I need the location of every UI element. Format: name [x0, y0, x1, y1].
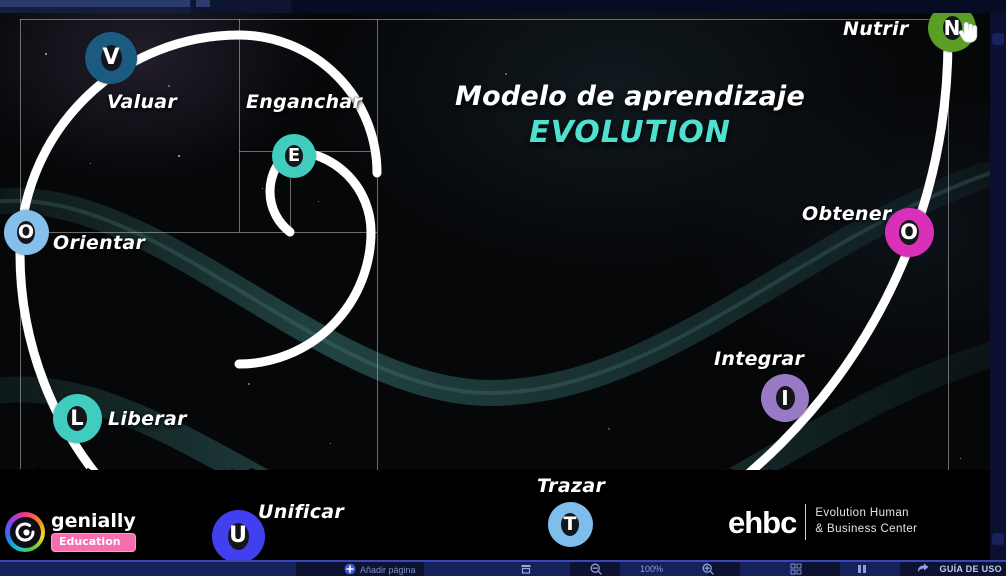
app-top-bar: [0, 0, 1006, 13]
genially-logo-icon: [5, 512, 45, 552]
right-panel-button-mid[interactable]: [992, 533, 1004, 545]
node-label-orientar: Orientar: [53, 232, 145, 254]
node-label-integrar: Integrar: [714, 348, 804, 370]
ehbc-tagline: Evolution Human & Business Center: [815, 506, 917, 537]
node-orientar[interactable]: O: [4, 210, 49, 255]
node-letter: O: [899, 220, 919, 245]
node-letter: V: [101, 45, 122, 71]
zoom-in-icon[interactable]: [702, 563, 714, 575]
hand-cursor-icon: [955, 14, 983, 44]
title-line-1: Modelo de aprendizaje: [430, 81, 830, 112]
add-page-label[interactable]: Añadir página: [360, 564, 416, 576]
toolbar-view-block: [740, 562, 796, 576]
node-liberar[interactable]: L: [53, 394, 102, 443]
right-panel-button-top[interactable]: [992, 33, 1004, 45]
toolbar-mid-block: [424, 562, 570, 576]
node-letter: E: [285, 145, 303, 167]
grid-view-icon[interactable]: [790, 563, 802, 575]
node-letter: O: [17, 221, 35, 244]
slide-canvas[interactable]: Modelo de aprendizaje EVOLUTION EEnganch…: [0, 13, 990, 562]
node-letter: L: [67, 406, 87, 431]
node-label-obtener: Obtener: [802, 203, 892, 225]
ehbc-tagline-line-1: Evolution Human: [815, 506, 917, 522]
zoom-level-label[interactable]: 100%: [640, 564, 663, 574]
guide-button-label[interactable]: GUÍA DE USO: [940, 564, 1002, 574]
zoom-out-icon[interactable]: [590, 563, 602, 575]
node-valuar[interactable]: V: [85, 32, 137, 84]
toolbar-left-block: [0, 562, 296, 576]
node-trazar[interactable]: T: [548, 502, 593, 547]
toolbar-extra-block: [840, 562, 900, 576]
node-label-enganchar: Enganchar: [246, 91, 362, 113]
ehbc-brand-name: ehbc: [728, 507, 796, 538]
add-page-icon[interactable]: [344, 563, 356, 575]
node-label-trazar: Trazar: [537, 475, 605, 497]
title-line-2: EVOLUTION: [430, 115, 830, 150]
ehbc-tagline-line-2: & Business Center: [815, 522, 917, 538]
node-letter: I: [776, 386, 795, 410]
toolbar-zoom-block: [620, 562, 708, 576]
ehbc-logo: ehbc Evolution Human & Business Center: [728, 504, 917, 540]
node-integrar[interactable]: I: [761, 374, 809, 422]
slide-title: Modelo de aprendizaje EVOLUTION: [430, 81, 830, 150]
node-label-unificar: Unificar: [258, 501, 344, 523]
node-unificar[interactable]: U: [212, 510, 265, 563]
treeline-silhouette: [0, 464, 990, 480]
genially-education-badge: Education: [51, 533, 136, 551]
node-label-liberar: Liberar: [108, 408, 187, 430]
node-label-nutrir: Nutrir: [843, 18, 909, 40]
right-side-panel[interactable]: [990, 13, 1006, 562]
pause-icon[interactable]: [856, 563, 868, 575]
node-label-valuar: Valuar: [107, 91, 177, 113]
node-letter: U: [228, 523, 249, 550]
genially-viewer: Modelo de aprendizaje EVOLUTION EEnganch…: [0, 0, 1006, 576]
top-bar-segment-right: [196, 0, 210, 7]
node-enganchar[interactable]: E: [272, 134, 316, 178]
node-letter: T: [561, 513, 579, 536]
ehbc-divider: [805, 504, 806, 540]
genially-watermark[interactable]: genially Education: [5, 512, 136, 552]
pages-icon[interactable]: [520, 563, 532, 575]
share-icon[interactable]: [916, 563, 930, 575]
top-bar-segment-left: [0, 0, 190, 7]
app-bottom-toolbar[interactable]: Añadir página 100% GUÍA: [0, 560, 1006, 576]
genially-name: genially: [51, 512, 136, 531]
